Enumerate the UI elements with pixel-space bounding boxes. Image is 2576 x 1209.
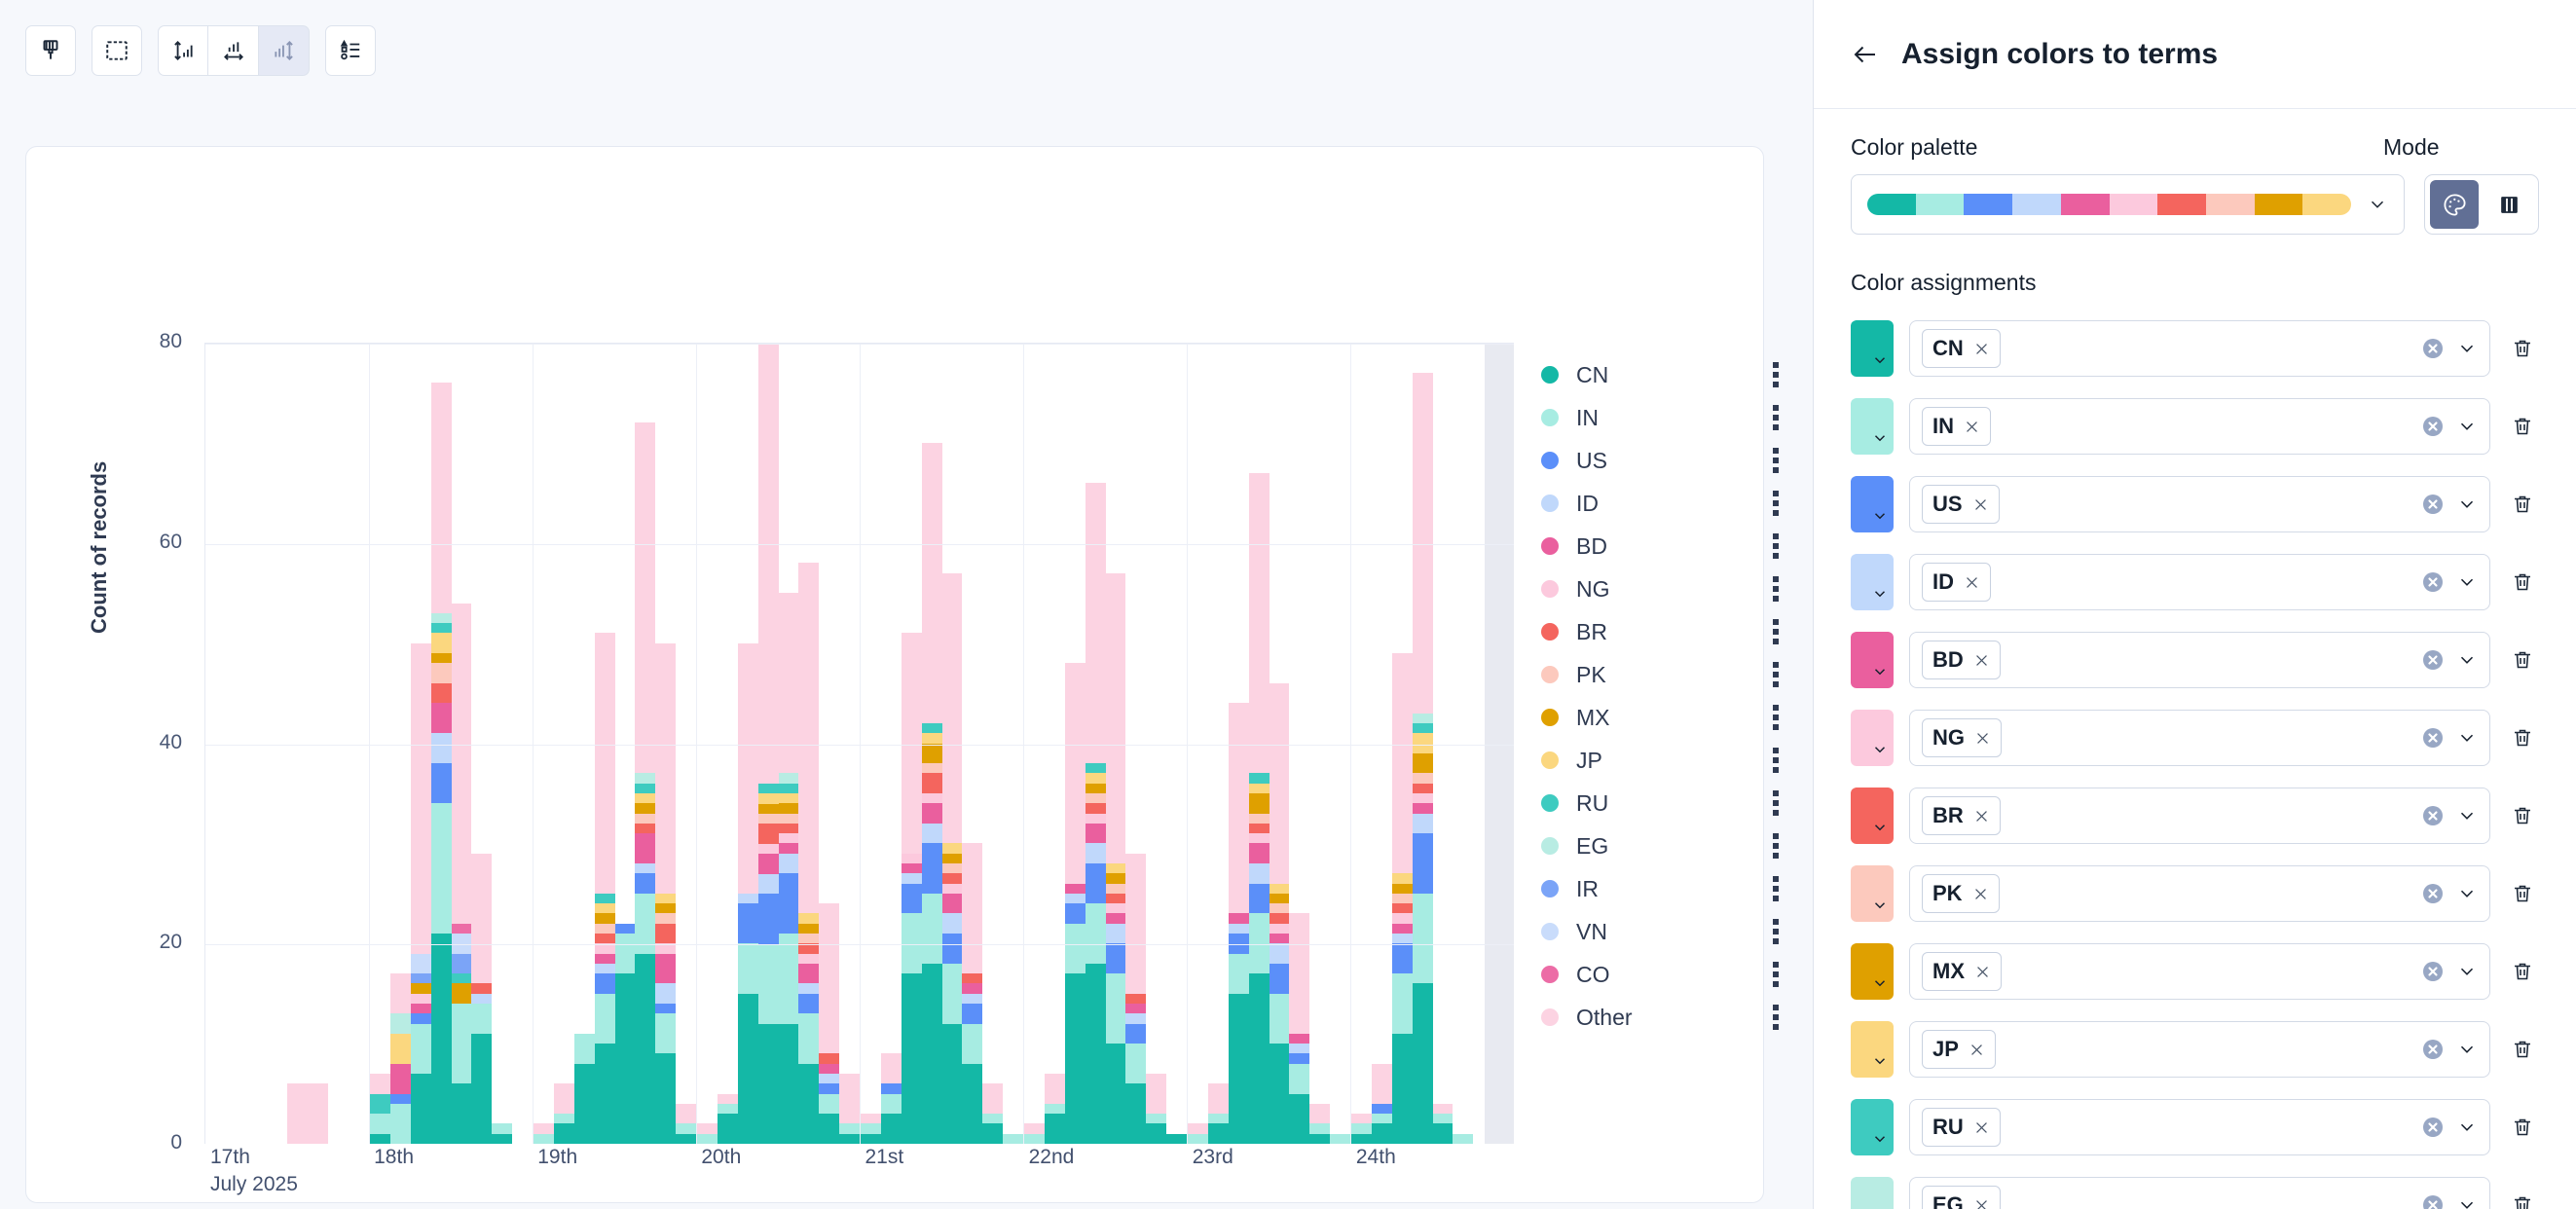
chevron-down-icon[interactable] [2456,338,2478,359]
bar-segment[interactable] [1125,854,1146,994]
chevron-down-icon[interactable] [2456,1117,2478,1138]
bar-segment[interactable] [1413,753,1433,774]
bar-segment[interactable] [452,1083,472,1144]
term-combobox[interactable]: PK [1909,865,2490,922]
bar-segment[interactable] [1372,1114,1392,1123]
delete-assignment-button[interactable] [2506,337,2539,360]
bar-segment[interactable] [738,943,758,993]
bar-segment[interactable] [962,843,982,973]
bar-segment[interactable] [819,1053,839,1063]
bar-segment[interactable] [1086,793,1106,803]
bar-segment[interactable] [1125,1024,1146,1044]
bar-segment[interactable] [982,1114,1003,1123]
bar-segment[interactable] [1413,814,1433,834]
bar-segment[interactable] [411,973,431,983]
bar-segment[interactable] [758,1024,779,1144]
bar-segment[interactable] [635,873,655,894]
legend-item[interactable]: IR [1541,867,1785,910]
bar-segment[interactable] [1413,793,1433,803]
bar-segment[interactable] [922,723,942,733]
bar-segment[interactable] [1249,824,1270,833]
bar-segment[interactable] [1146,1114,1166,1123]
bar-segment[interactable] [1086,964,1106,1144]
bar-segment[interactable] [411,643,431,954]
bar-segment[interactable] [942,843,963,853]
legend-item[interactable]: JP [1541,739,1785,782]
term-combobox[interactable]: RU [1909,1099,2490,1155]
bar-segment[interactable] [676,1123,696,1133]
bar-segment[interactable] [1106,924,1126,944]
legend-item[interactable]: CO [1541,953,1785,996]
bar-segment[interactable] [1392,934,1413,943]
bar-segment[interactable] [390,1104,411,1144]
bar-segment[interactable] [676,1104,696,1124]
chevron-down-icon[interactable] [2456,1194,2478,1209]
term-combobox[interactable]: ID [1909,554,2490,610]
bar-segment[interactable] [452,1004,472,1083]
clear-selection-icon[interactable] [2421,570,2445,594]
legend-item[interactable]: CN [1541,353,1785,396]
bar-segment[interactable] [1289,913,1309,1033]
arrow-left-icon[interactable] [1851,40,1880,69]
bar-segment[interactable] [1106,573,1126,863]
legend-item[interactable]: BR [1541,610,1785,653]
bar-segment[interactable] [1289,1064,1309,1094]
bar-segment[interactable] [779,593,799,773]
bar-segment[interactable] [574,1064,595,1144]
bar-segment[interactable] [779,833,799,843]
remove-term-icon[interactable] [1964,574,1980,591]
bar-segment[interactable] [1106,1044,1126,1144]
drag-handle-icon[interactable] [1773,876,1779,901]
bar-segment[interactable] [287,1083,328,1144]
bar-segment[interactable] [779,854,799,874]
bar-segment[interactable] [942,964,963,1024]
bar-segment[interactable] [798,1064,819,1144]
bar-segment[interactable] [1270,903,1290,913]
bar-segment[interactable] [942,934,963,964]
bar-segment[interactable] [1106,913,1126,923]
bar-segment[interactable] [655,983,676,1004]
bar-segment[interactable] [902,873,922,883]
bar-segment[interactable] [1351,1123,1372,1133]
delete-assignment-button[interactable] [2506,648,2539,672]
bar-segment[interactable] [615,924,636,934]
bar-segment[interactable] [1229,994,1249,1144]
bar-segment[interactable] [431,633,452,653]
bar-segment[interactable] [758,844,779,854]
bar-segment[interactable] [779,793,799,803]
clear-selection-icon[interactable] [2421,882,2445,905]
bar-segment[interactable] [655,1013,676,1053]
bar-segment[interactable] [431,733,452,763]
bar-segment[interactable] [370,1134,390,1144]
bar-segment[interactable] [1106,873,1126,883]
remove-term-icon[interactable] [1964,419,1980,435]
bar-segment[interactable] [452,954,472,974]
bar-segment[interactable] [758,804,779,814]
drag-handle-icon[interactable] [1773,962,1779,987]
drag-handle-icon[interactable] [1773,405,1779,430]
bar-segment[interactable] [1270,943,1290,964]
bar-segment[interactable] [1330,1134,1350,1144]
text-box-icon-button[interactable] [92,25,142,76]
color-swatch-button[interactable] [1851,398,1894,455]
bar-segment[interactable] [1372,1123,1392,1144]
delete-assignment-button[interactable] [2506,882,2539,905]
bar-segment[interactable] [779,814,799,824]
bar-segment[interactable] [534,1123,554,1133]
chevron-down-icon[interactable] [2456,649,2478,671]
bar-segment[interactable] [942,573,963,844]
bar-segment[interactable] [534,1134,554,1144]
bar-segment[interactable] [1413,714,1433,723]
bar-segment[interactable] [758,944,779,1024]
bar-segment[interactable] [922,744,942,764]
drag-handle-icon[interactable] [1773,576,1779,602]
clear-selection-icon[interactable] [2421,1193,2445,1209]
bar-segment[interactable] [982,1083,1003,1114]
color-swatch-button[interactable] [1851,632,1894,688]
delete-assignment-button[interactable] [2506,1038,2539,1061]
bar-segment[interactable] [1270,913,1290,923]
bar-segment[interactable] [635,422,655,773]
bar-segment[interactable] [635,863,655,873]
bar-segment[interactable] [1392,653,1413,873]
bar-segment[interactable] [758,784,779,793]
plot-area[interactable] [204,343,1514,1144]
bar-segment[interactable] [942,863,963,873]
delete-assignment-button[interactable] [2506,570,2539,594]
bar-segment[interactable] [1289,1053,1309,1063]
bar-segment[interactable] [390,973,411,1013]
bar-segment[interactable] [411,1074,431,1144]
bar-segment[interactable] [779,843,799,853]
bar-segment[interactable] [471,1004,492,1034]
legend-item[interactable]: PK [1541,653,1785,696]
remove-term-icon[interactable] [1973,652,1990,669]
drag-handle-icon[interactable] [1773,1005,1779,1030]
legend-item[interactable]: ID [1541,482,1785,525]
bar-segment[interactable] [655,643,676,894]
bar-segment[interactable] [595,994,615,1044]
bar-segment[interactable] [1249,814,1270,824]
bar-segment[interactable] [390,1064,411,1094]
bar-segment[interactable] [881,1053,902,1083]
bar-segment[interactable] [798,954,819,964]
color-palette-select[interactable] [1851,174,2405,235]
bar-segment[interactable] [1309,1123,1330,1133]
bar-segment[interactable] [1289,1044,1309,1053]
bar-segment[interactable] [718,1114,738,1144]
remove-term-icon[interactable] [1969,1042,1985,1058]
bar-segment[interactable] [819,1083,839,1093]
delete-assignment-button[interactable] [2506,1193,2539,1209]
bar-segment[interactable] [922,443,942,723]
bar-segment[interactable] [962,994,982,1004]
delete-assignment-button[interactable] [2506,726,2539,750]
bar-segment[interactable] [1433,1104,1454,1114]
bar-segment[interactable] [1024,1123,1045,1133]
bar-segment[interactable] [1413,894,1433,984]
drag-handle-icon[interactable] [1773,533,1779,559]
bar-segment[interactable] [819,1064,839,1074]
delete-assignment-button[interactable] [2506,415,2539,438]
sort-series-icon-button[interactable] [259,25,310,76]
bar-segment[interactable] [595,1044,615,1144]
bar-segment[interactable] [1270,884,1290,894]
bar-segment[interactable] [861,1114,881,1123]
bar-segment[interactable] [635,954,655,1144]
bar-segment[interactable] [411,983,431,993]
chevron-down-icon[interactable] [2456,416,2478,437]
bar-segment[interactable] [1453,1134,1473,1144]
bar-segment[interactable] [595,964,615,973]
delete-assignment-button[interactable] [2506,804,2539,827]
bar-segment[interactable] [390,1013,411,1034]
legend-item[interactable]: IN [1541,396,1785,439]
color-swatch-button[interactable] [1851,710,1894,766]
bar-segment[interactable] [1086,863,1106,903]
bar-segment[interactable] [1106,884,1126,894]
bar-segment[interactable] [1086,773,1106,783]
bar-segment[interactable] [1229,924,1249,934]
remove-term-icon[interactable] [1973,341,1990,357]
bar-segment[interactable] [655,894,676,903]
clear-selection-icon[interactable] [2421,960,2445,983]
bar-segment[interactable] [655,1004,676,1013]
bar-segment[interactable] [1045,1104,1065,1114]
bar-segment[interactable] [431,683,452,704]
term-combobox[interactable]: NG [1909,710,2490,766]
bar-segment[interactable] [595,934,615,943]
bar-segment[interactable] [902,863,922,873]
drag-handle-icon[interactable] [1773,748,1779,773]
bar-segment[interactable] [758,874,779,895]
bar-segment[interactable] [1392,873,1413,883]
bar-segment[interactable] [798,964,819,984]
remove-term-icon[interactable] [1974,964,1991,980]
bar-segment[interactable] [1125,1083,1146,1144]
bar-segment[interactable] [615,973,636,1144]
bar-segment[interactable] [370,1114,390,1134]
bar-segment[interactable] [431,383,452,613]
bar-segment[interactable] [595,894,615,903]
bar-segment[interactable] [1065,884,1086,894]
bar-segment[interactable] [1086,824,1106,844]
chevron-down-icon[interactable] [2456,571,2478,593]
bar-segment[interactable] [962,1004,982,1024]
drag-handle-icon[interactable] [1773,619,1779,644]
bar-segment[interactable] [962,1024,982,1064]
bar-segment[interactable] [718,1094,738,1104]
bar-segment[interactable] [635,824,655,833]
bar-segment[interactable] [798,934,819,943]
bar-segment[interactable] [922,793,942,803]
bar-segment[interactable] [431,803,452,934]
bar-segment[interactable] [1413,723,1433,733]
palette-mode-icon-button[interactable] [2430,180,2479,229]
color-swatch-button[interactable] [1851,1021,1894,1078]
bar-segment[interactable] [1270,924,1290,934]
bar-segment[interactable] [779,803,799,813]
bar-segment[interactable] [738,894,758,903]
bar-segment[interactable] [1146,1074,1166,1114]
bar-segment[interactable] [554,1123,574,1144]
bar-segment[interactable] [942,854,963,863]
bar-segment[interactable] [1351,1134,1372,1144]
bar-segment[interactable] [982,1123,1003,1144]
bar-segment[interactable] [431,613,452,623]
clear-selection-icon[interactable] [2421,415,2445,438]
bar-segment[interactable] [431,763,452,803]
bar-segment[interactable] [1289,1034,1309,1044]
bar-segment[interactable] [758,814,779,824]
bar-segment[interactable] [595,973,615,994]
bar-segment[interactable] [574,1034,595,1064]
bar-segment[interactable] [471,994,492,1004]
bar-segment[interactable] [431,663,452,683]
bar-segment[interactable] [861,1123,881,1133]
bar-segment[interactable] [1188,1123,1208,1133]
bar-segment[interactable] [1270,683,1290,884]
bar-segment[interactable] [411,1004,431,1013]
bar-segment[interactable] [431,653,452,663]
color-swatch-button[interactable] [1851,865,1894,922]
bar-segment[interactable] [431,934,452,1144]
bar-segment[interactable] [942,1024,963,1144]
bar-segment[interactable] [595,633,615,893]
bar-segment[interactable] [839,1123,860,1133]
bar-segment[interactable] [1270,894,1290,903]
bar-segment[interactable] [1065,973,1086,1144]
bar-segment[interactable] [1086,803,1106,813]
bar-segment[interactable] [411,1013,431,1023]
bar-segment[interactable] [922,803,942,824]
bar-segment[interactable] [902,973,922,1144]
legend-list-icon-button[interactable] [325,25,376,76]
bar-segment[interactable] [697,1123,718,1133]
gradient-mode-icon-button[interactable] [2484,180,2533,229]
bar-segment[interactable] [1249,884,1270,914]
bar-segment[interactable] [1086,784,1106,793]
bar-segment[interactable] [452,983,472,1004]
bar-segment[interactable] [1086,483,1106,763]
bar-segment[interactable] [1106,943,1126,973]
bar-segment[interactable] [1270,934,1290,943]
bar-segment[interactable] [798,1013,819,1063]
bar-segment[interactable] [1065,903,1086,924]
bar-segment[interactable] [881,1094,902,1115]
bar-segment[interactable] [1188,1134,1208,1144]
bar-segment[interactable] [942,894,963,914]
bar-segment[interactable] [1146,1123,1166,1144]
bar-segment[interactable] [471,854,492,984]
bar-segment[interactable] [1125,1004,1146,1013]
bar-segment[interactable] [779,934,799,1024]
bar-segment[interactable] [1249,843,1270,863]
color-swatch-button[interactable] [1851,1177,1894,1209]
chevron-down-icon[interactable] [2456,727,2478,749]
bar-segment[interactable] [676,1134,696,1144]
bar-segment[interactable] [1270,1044,1290,1144]
clear-selection-icon[interactable] [2421,648,2445,672]
bar-segment[interactable] [819,1094,839,1115]
bar-segment[interactable] [492,1134,512,1144]
bar-segment[interactable] [554,1114,574,1123]
clear-selection-icon[interactable] [2421,804,2445,827]
bar-segment[interactable] [1433,1123,1454,1144]
bar-segment[interactable] [1392,894,1413,903]
term-combobox[interactable]: MX [1909,943,2490,1000]
bar-segment[interactable] [922,824,942,844]
bar-segment[interactable] [390,1034,411,1064]
bar-segment[interactable] [1106,903,1126,913]
color-swatch-button[interactable] [1851,320,1894,377]
bar-segment[interactable] [635,784,655,793]
bar-segment[interactable] [758,793,779,803]
bar-segment[interactable] [635,773,655,783]
drag-handle-icon[interactable] [1773,662,1779,687]
remove-term-icon[interactable] [1972,886,1989,902]
bar-segment[interactable] [779,773,799,783]
clear-selection-icon[interactable] [2421,1116,2445,1139]
bar-segment[interactable] [922,733,942,743]
drag-handle-icon[interactable] [1773,362,1779,387]
bar-segment[interactable] [411,994,431,1004]
paintbrush-icon-button[interactable] [25,25,76,76]
bar-segment[interactable] [1392,903,1413,913]
bar-segment[interactable] [595,924,615,934]
bar-segment[interactable] [758,854,779,874]
bar-segment[interactable] [1045,1114,1065,1144]
bar-segment[interactable] [922,773,942,793]
clear-selection-icon[interactable] [2421,1038,2445,1061]
bar-segment[interactable] [615,934,636,973]
delete-assignment-button[interactable] [2506,1116,2539,1139]
term-combobox[interactable]: EG [1909,1177,2490,1209]
legend-item[interactable]: US [1541,439,1785,482]
bar-segment[interactable] [697,1134,718,1144]
delete-assignment-button[interactable] [2506,493,2539,516]
bar-segment[interactable] [1249,863,1270,884]
bar-segment[interactable] [1086,814,1106,824]
color-swatch-button[interactable] [1851,788,1894,844]
bar-segment[interactable] [718,1104,738,1114]
legend-item[interactable]: RU [1541,782,1785,824]
bar-segment[interactable] [779,824,799,833]
bar-segment[interactable] [738,994,758,1144]
bar-segment[interactable] [881,1083,902,1093]
bar-segment[interactable] [922,763,942,773]
bar-segment[interactable] [1392,884,1413,894]
bar-segment[interactable] [595,913,615,923]
drag-handle-icon[interactable] [1773,705,1779,730]
remove-term-icon[interactable] [1973,808,1990,824]
bar-segment[interactable] [861,1134,881,1144]
bar-segment[interactable] [922,964,942,1144]
clear-selection-icon[interactable] [2421,337,2445,360]
bar-segment[interactable] [1125,1013,1146,1023]
bar-segment[interactable] [1086,843,1106,863]
bar-segment[interactable] [779,1024,799,1144]
bar-segment[interactable] [635,793,655,803]
bar-segment[interactable] [655,954,676,984]
bar-segment[interactable] [1249,773,1270,783]
bar-segment[interactable] [452,924,472,934]
bar-segment[interactable] [839,1134,860,1144]
bar-segment[interactable] [411,954,431,974]
